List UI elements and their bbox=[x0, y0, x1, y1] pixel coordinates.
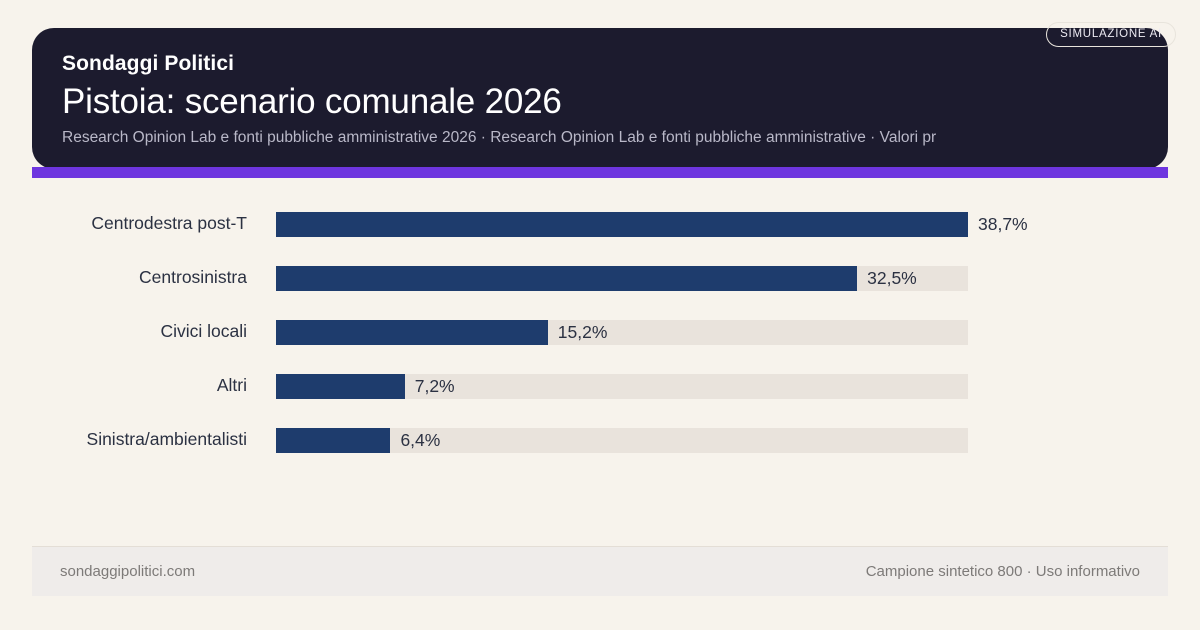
bar-category-label: Centrodestra post-T bbox=[0, 196, 247, 250]
status-badge-simulazione-ai: SIMULAZIONE AI bbox=[1046, 22, 1176, 47]
table-row: Centrosinistra 32,5% bbox=[0, 250, 1200, 304]
bar-category-label: Centrosinistra bbox=[0, 250, 247, 304]
bar-value-label: 32,5% bbox=[857, 266, 917, 291]
page-title: Pistoia: scenario comunale 2026 bbox=[62, 78, 1134, 125]
bar-category-label: Civici locali bbox=[0, 304, 247, 358]
accent-divider bbox=[32, 167, 1168, 178]
bar-track bbox=[276, 428, 968, 453]
bar-value-label: 15,2% bbox=[548, 320, 608, 345]
bar-category-label: Altri bbox=[0, 358, 247, 412]
bar-category-label: Sinistra/ambientalisti bbox=[0, 412, 247, 466]
bar-track bbox=[276, 212, 968, 237]
bar-fill bbox=[276, 374, 405, 399]
footer-site-label: sondaggipolitici.com bbox=[60, 547, 195, 596]
brand-eyebrow: Sondaggi Politici bbox=[62, 50, 1134, 77]
table-row: Civici locali 15,2% bbox=[0, 304, 1200, 358]
bar-fill bbox=[276, 320, 548, 345]
bar-track bbox=[276, 320, 968, 345]
table-row: Centrodestra post-T 38,7% bbox=[0, 196, 1200, 250]
page-subtitle: Research Opinion Lab e fonti pubbliche a… bbox=[62, 127, 1122, 149]
footer-note-label: Campione sintetico 800 · Uso informativo bbox=[866, 547, 1140, 596]
bar-chart: Centrodestra post-T 38,7% Centrosinistra… bbox=[0, 196, 1200, 466]
bar-fill bbox=[276, 266, 857, 291]
bar-value-label: 7,2% bbox=[405, 374, 455, 399]
table-row: Sinistra/ambientalisti 6,4% bbox=[0, 412, 1200, 466]
header-card: Sondaggi Politici Pistoia: scenario comu… bbox=[32, 28, 1168, 169]
table-row: Altri 7,2% bbox=[0, 358, 1200, 412]
bar-value-label: 38,7% bbox=[968, 212, 1028, 237]
bar-track bbox=[276, 374, 968, 399]
bar-fill bbox=[276, 428, 390, 453]
footer-bar: sondaggipolitici.com Campione sintetico … bbox=[32, 546, 1168, 596]
bar-fill bbox=[276, 212, 968, 237]
bar-value-label: 6,4% bbox=[390, 428, 440, 453]
